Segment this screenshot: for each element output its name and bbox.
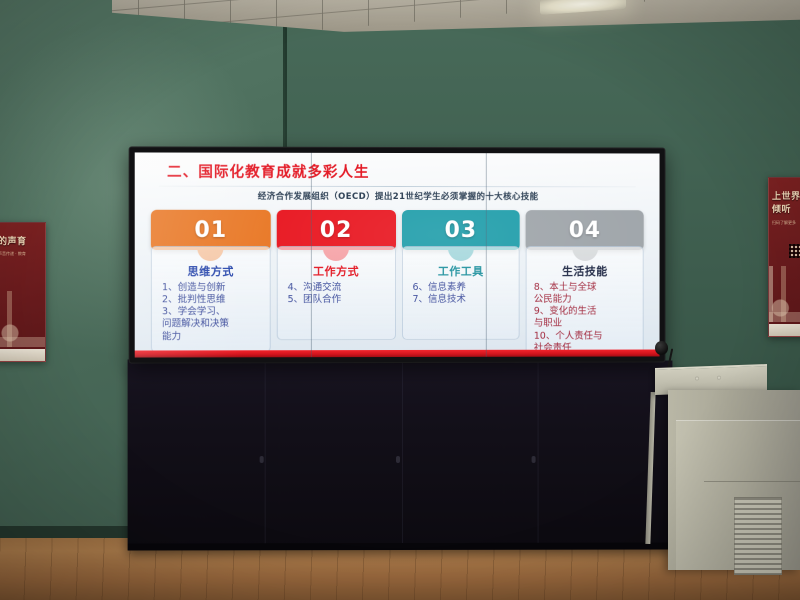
microphone-head-icon: [655, 341, 668, 355]
card-item: 9、变化的生活: [534, 306, 639, 318]
card-items-03: 6、信息素养 7、信息技术: [406, 282, 514, 306]
video-wall-display[interactable]: 二、国际化教育成就多彩人生 经济合作发展组织（OECD）提出21世纪学生必须掌握…: [130, 147, 665, 362]
skill-card-01[interactable]: 01 思维方式 1、创造与创新 2、批判性思维 3、学会学习、 问题解决和决策 …: [151, 210, 271, 358]
card-item: 8、本土与全球: [534, 282, 639, 294]
card-items-01: 1、创造与创新 2、批判性思维 3、学会学习、 问题解决和决策 能力: [156, 282, 266, 343]
presentation-slide: 二、国际化教育成就多彩人生 经济合作发展组织（OECD）提出21世纪学生必须掌握…: [135, 152, 660, 357]
cabinet-door-seam: [402, 360, 403, 544]
podium-panel-line: [704, 481, 800, 482]
badge-04: 04: [526, 210, 644, 250]
card-item: 10、个人责任与: [534, 330, 639, 342]
poster-left-artwork: [0, 291, 45, 347]
badge-number-01: 01: [194, 217, 227, 242]
cabinet-door-seam: [537, 360, 538, 544]
badge-number-03: 03: [445, 218, 478, 243]
card-item: 能力: [162, 331, 265, 343]
poster-right-sub: 扫码了解更多: [769, 217, 800, 226]
card-items-02: 4、沟通交流 5、团队合作: [282, 282, 391, 306]
screen-surface: 二、国际化教育成就多彩人生 经济合作发展组织（OECD）提出21世纪学生必须掌握…: [135, 152, 660, 357]
podium-screw: [695, 376, 699, 380]
card-panel-02: 工作方式 4、沟通交流 5、团队合作: [277, 246, 396, 340]
podium-vent-grille: [734, 497, 782, 575]
card-title-02: 工作方式: [282, 263, 391, 279]
card-item: 问题解决和决策: [162, 319, 265, 331]
wall-poster-right: 上世界 倾听 扫码了解更多: [768, 177, 800, 337]
podium-screw: [717, 376, 721, 380]
slide-title: 二、国际化教育成就多彩人生: [145, 161, 650, 183]
under-screen-cabinet[interactable]: [128, 359, 673, 550]
badge-number-04: 04: [569, 218, 601, 243]
card-title-01: 思维方式: [156, 263, 266, 279]
poster-left-headline: 的声育: [0, 223, 45, 248]
poster-right-footer: [769, 324, 800, 336]
card-item: 与职业: [534, 318, 639, 330]
card-item: 公民能力: [534, 294, 639, 306]
title-divider: [159, 186, 636, 188]
skill-card-02[interactable]: 02 工作方式 4、沟通交流 5、团队合作: [277, 210, 396, 358]
card-item: 4、沟通交流: [288, 282, 391, 294]
badge-03: 03: [401, 210, 519, 250]
qr-code-icon: [789, 244, 800, 258]
wall-poster-left: 的声育 声音传递 · 教育: [0, 222, 46, 362]
card-item: 2、批判性思维: [162, 294, 265, 306]
skill-card-row: 01 思维方式 1、创造与创新 2、批判性思维 3、学会学习、 问题解决和决策 …: [145, 210, 650, 358]
skill-card-04[interactable]: 04 生活技能 8、本土与全球 公民能力 9、变化的生活 与职业 10、个人责任…: [526, 210, 644, 357]
cabinet-knob[interactable]: [396, 456, 400, 463]
poster-right-headline: 上世界: [769, 178, 800, 203]
poster-left-sub: 声音传递 · 教育: [0, 248, 45, 257]
card-panel-01: 思维方式 1、创造与创新 2、批判性思维 3、学会学习、 问题解决和决策 能力: [151, 246, 271, 352]
slide-subtitle: 经济合作发展组织（OECD）提出21世纪学生必须掌握的十大核心技能: [145, 190, 650, 203]
card-title-03: 工作工具: [406, 263, 514, 279]
slide-accent-bar: [135, 350, 660, 358]
card-item: 1、创造与创新: [162, 282, 265, 294]
cabinet-base: [128, 543, 673, 551]
cabinet-knob[interactable]: [532, 456, 536, 463]
card-item: 6、信息素养: [412, 282, 514, 294]
poster-left-footer: [0, 349, 45, 361]
card-panel-04: 生活技能 8、本土与全球 公民能力 9、变化的生活 与职业 10、个人责任与 社…: [526, 246, 644, 358]
badge-01: 01: [151, 210, 271, 250]
card-item: 7、信息技术: [412, 294, 514, 306]
baseboard: [0, 526, 130, 538]
cabinet-door-seam: [265, 360, 266, 545]
podium[interactable]: [668, 390, 800, 570]
poster-right-headline2: 倾听: [769, 203, 800, 216]
card-item: 3、学会学习、: [162, 306, 265, 318]
badge-02: 02: [277, 210, 396, 250]
card-panel-03: 工作工具 6、信息素养 7、信息技术: [401, 246, 519, 340]
cabinet-knob[interactable]: [259, 456, 263, 463]
lecture-room-photo: 的声育 声音传递 · 教育 上世界 倾听 扫码了解更多 二、国际化教育成就多彩人…: [0, 0, 800, 600]
card-item: 5、团队合作: [288, 294, 391, 306]
card-title-04: 生活技能: [531, 263, 639, 279]
skill-card-03[interactable]: 03 工作工具 6、信息素养 7、信息技术: [401, 210, 519, 358]
poster-right-artwork: [769, 266, 800, 322]
badge-number-02: 02: [320, 217, 353, 242]
card-items-04: 8、本土与全球 公民能力 9、变化的生活 与职业 10、个人责任与 社会责任: [531, 282, 639, 355]
podium-front-panel: [676, 420, 800, 570]
